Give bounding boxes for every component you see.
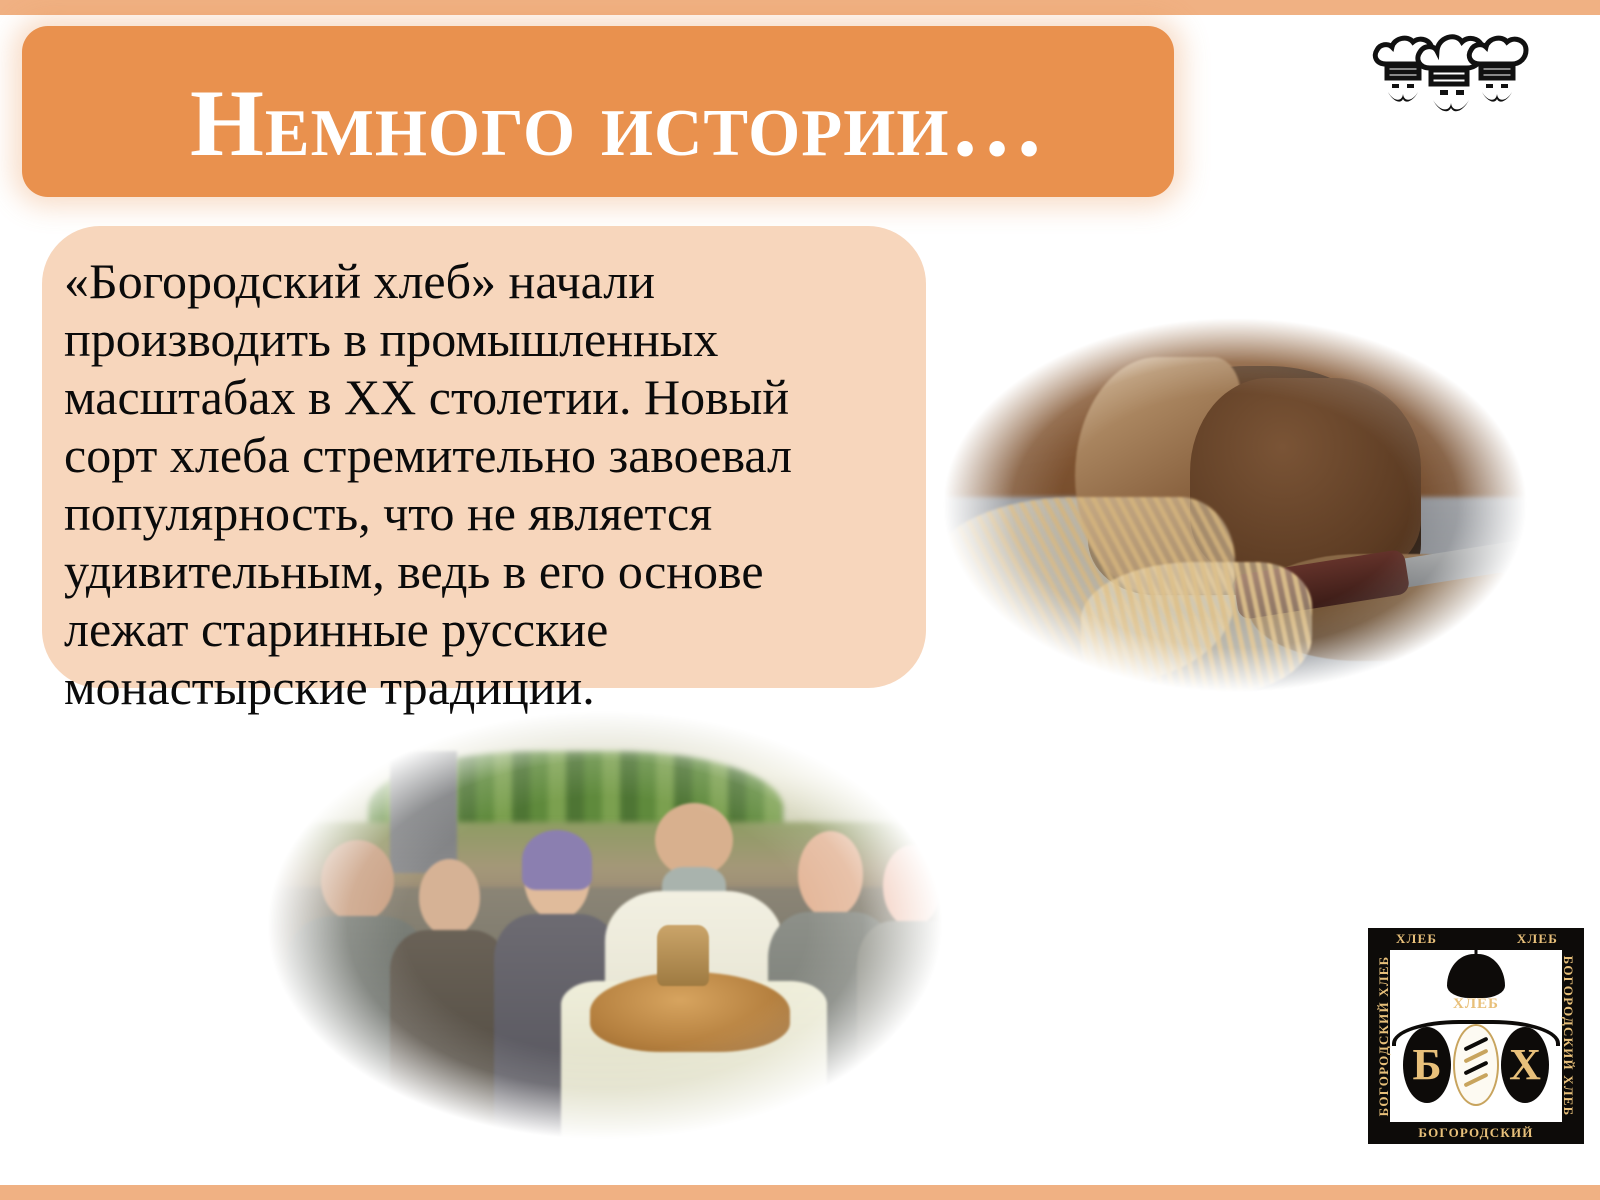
logo-right-side-text: БОГОРОДСКИЙ ХЛЕБ [1560,956,1576,1117]
body-paragraph: «Богородский хлеб» начали производить в … [64,252,892,716]
body-text-card: «Богородский хлеб» начали производить в … [42,226,926,688]
wheat-ears-secondary [1081,562,1311,693]
top-accent-strip [0,0,1600,15]
logo-dome-label: ХЛЕБ [1453,996,1499,1013]
logo-monogram: Б Х [1403,1024,1549,1106]
logo-top-right-text: ХЛЕБ [1517,931,1558,947]
logo-top-left-text: ХЛЕБ [1396,931,1437,947]
logo-left-side-text: БОГОРОДСКИЙ ХЛЕБ [1376,956,1392,1117]
bread-loaf-icon [1453,1024,1499,1106]
three-chefs-icon [1368,22,1536,122]
rye-bread-photo [915,300,1555,710]
logo-bottom-text: БОГОРОДСКИЙ [1418,1125,1533,1141]
painting-figure [857,845,968,1136]
bogorodsky-hleb-logo: ХЛЕБ ХЛЕБ БОГОРОДСКИЙ ХЛЕБ БОГОРОДСКИЙ Х… [1368,928,1584,1144]
page-title: Немного истории… [190,76,1045,171]
monogram-letter-b: Б [1403,1027,1451,1103]
salt-cellar [657,925,709,986]
bottom-accent-strip [0,1185,1600,1200]
bread-and-salt-painting [235,690,975,1160]
orthodox-cross-icon [1475,936,1478,956]
painting-figure [390,859,508,1132]
monogram-letter-h: Х [1501,1027,1549,1103]
title-banner: Немного истории… [22,26,1174,197]
